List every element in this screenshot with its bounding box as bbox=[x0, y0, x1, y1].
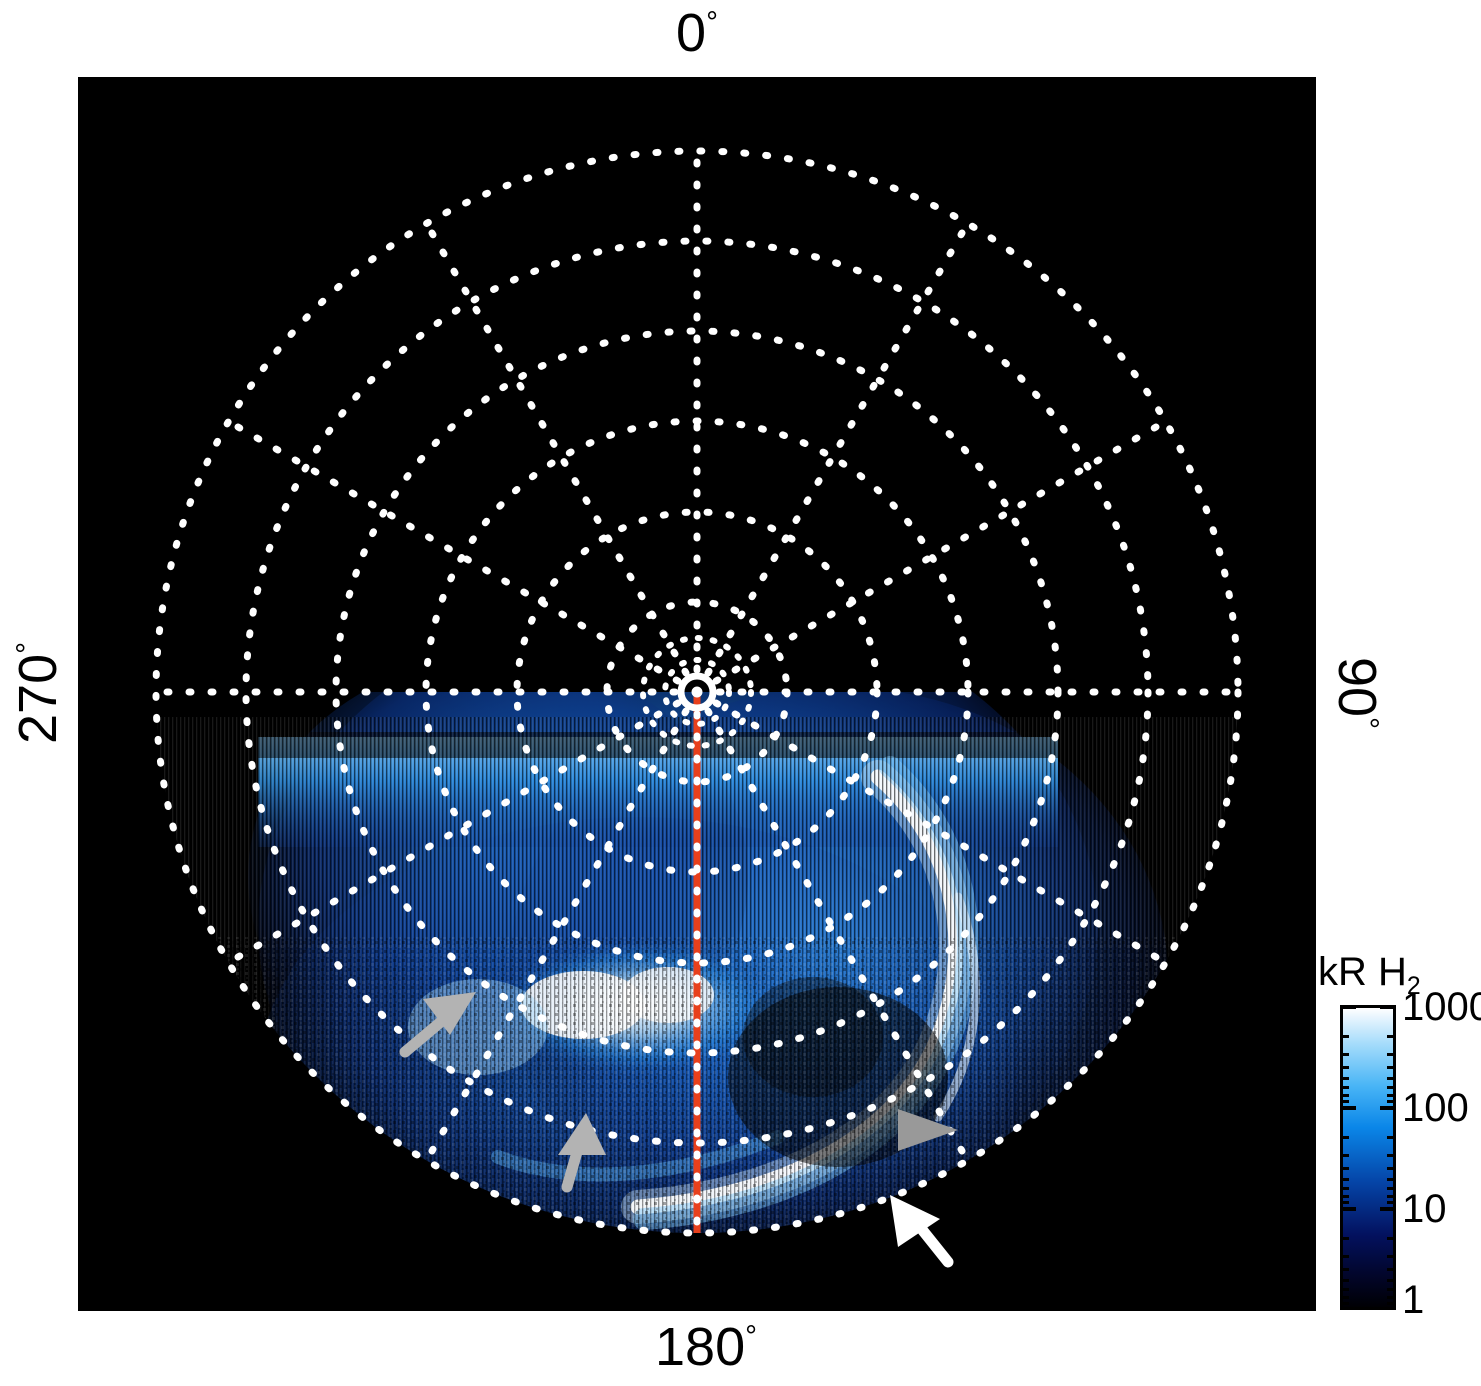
colorbar-tick-minor bbox=[1340, 1178, 1349, 1181]
figure-root: 0° 180° 270° 90° bbox=[0, 0, 1481, 1386]
spoke-30 bbox=[697, 224, 968, 693]
spoke-330 bbox=[427, 224, 698, 693]
colorbar-tick-minor bbox=[1340, 1237, 1349, 1240]
colorbar-tick-minor bbox=[1387, 1086, 1396, 1089]
colorbar-tick-minor bbox=[1340, 1268, 1349, 1271]
colorbar-tick-minor bbox=[1387, 1201, 1396, 1204]
colorbar-tick-minor bbox=[1387, 1302, 1396, 1305]
colorbar-tick-minor bbox=[1387, 1053, 1396, 1056]
orientation-label-top: 0° bbox=[676, 6, 718, 60]
colorbar-label-100: 100 bbox=[1402, 1088, 1469, 1128]
colorbar-tick-major-1000-r bbox=[1380, 1005, 1396, 1009]
colorbar-gradient bbox=[1340, 1005, 1396, 1310]
colorbar-label-1: 1 bbox=[1402, 1280, 1424, 1320]
colorbar-tick-minor bbox=[1387, 1296, 1396, 1299]
colorbar-tick-minor bbox=[1340, 1077, 1349, 1080]
colorbar-tick-minor bbox=[1387, 1279, 1396, 1282]
colorbar-tick-minor bbox=[1387, 1100, 1396, 1103]
colorbar-tick-minor bbox=[1340, 1035, 1349, 1038]
colorbar-label-1000: 1000 bbox=[1402, 987, 1481, 1027]
colorbar-tick-major-10 bbox=[1340, 1207, 1356, 1211]
orientation-label-left: 270° bbox=[11, 642, 65, 744]
colorbar-tick-major-100 bbox=[1340, 1106, 1356, 1110]
colorbar-tick-minor bbox=[1340, 1094, 1349, 1097]
colorbar-tick-minor bbox=[1340, 1053, 1349, 1056]
orientation-label-bottom: 180° bbox=[655, 1320, 757, 1374]
colorbar-tick-minor bbox=[1387, 1167, 1396, 1170]
colorbar-tick-minor bbox=[1340, 1136, 1349, 1139]
colorbar-tick-major-10-r bbox=[1380, 1207, 1396, 1211]
colorbar-tick-minor bbox=[1340, 1195, 1349, 1198]
colorbar-tick-minor bbox=[1340, 1302, 1349, 1305]
colorbar-tick-minor bbox=[1387, 1136, 1396, 1139]
colorbar-tick-minor bbox=[1387, 1187, 1396, 1190]
colorbar-tick-minor bbox=[1340, 1279, 1349, 1282]
colorbar-tick-minor bbox=[1340, 1255, 1349, 1258]
colorbar-tick-minor bbox=[1387, 1268, 1396, 1271]
colorbar-tick-minor bbox=[1340, 1100, 1349, 1103]
colorbar-tick-major-1000 bbox=[1340, 1005, 1356, 1009]
colorbar-tick-minor bbox=[1387, 1178, 1396, 1181]
colorbar-label-10: 10 bbox=[1402, 1189, 1447, 1229]
arrow-white-lower-right bbox=[890, 1195, 948, 1262]
colorbar-tick-minor bbox=[1340, 1086, 1349, 1089]
colorbar-tick-minor bbox=[1387, 1094, 1396, 1097]
colorbar-tick-minor bbox=[1340, 1201, 1349, 1204]
colorbar-tick-minor bbox=[1387, 1066, 1396, 1069]
polar-plot-svg bbox=[78, 77, 1316, 1311]
polar-plot-panel bbox=[78, 77, 1316, 1311]
colorbar-tick-minor bbox=[1387, 1195, 1396, 1198]
colorbar-tick-major-100-r bbox=[1380, 1106, 1396, 1110]
colorbar-tick-minor bbox=[1387, 1288, 1396, 1291]
colorbar-tick-minor bbox=[1340, 1296, 1349, 1299]
orientation-label-right: 90° bbox=[1330, 657, 1384, 729]
colorbar-tick-minor bbox=[1340, 1167, 1349, 1170]
colorbar-tick-minor bbox=[1387, 1237, 1396, 1240]
pole-marker-dot bbox=[693, 688, 701, 696]
colorbar-group: kR H2 bbox=[1318, 950, 1481, 1330]
colorbar-tick-minor bbox=[1340, 1066, 1349, 1069]
colorbar-tick-minor bbox=[1340, 1154, 1349, 1157]
colorbar-tick-minor bbox=[1340, 1187, 1349, 1190]
colorbar-tick-minor bbox=[1387, 1077, 1396, 1080]
colorbar-tick-minor bbox=[1340, 1288, 1349, 1291]
colorbar-tick-minor bbox=[1387, 1154, 1396, 1157]
colorbar-tick-minor bbox=[1387, 1035, 1396, 1038]
colorbar-tick-minor bbox=[1387, 1255, 1396, 1258]
